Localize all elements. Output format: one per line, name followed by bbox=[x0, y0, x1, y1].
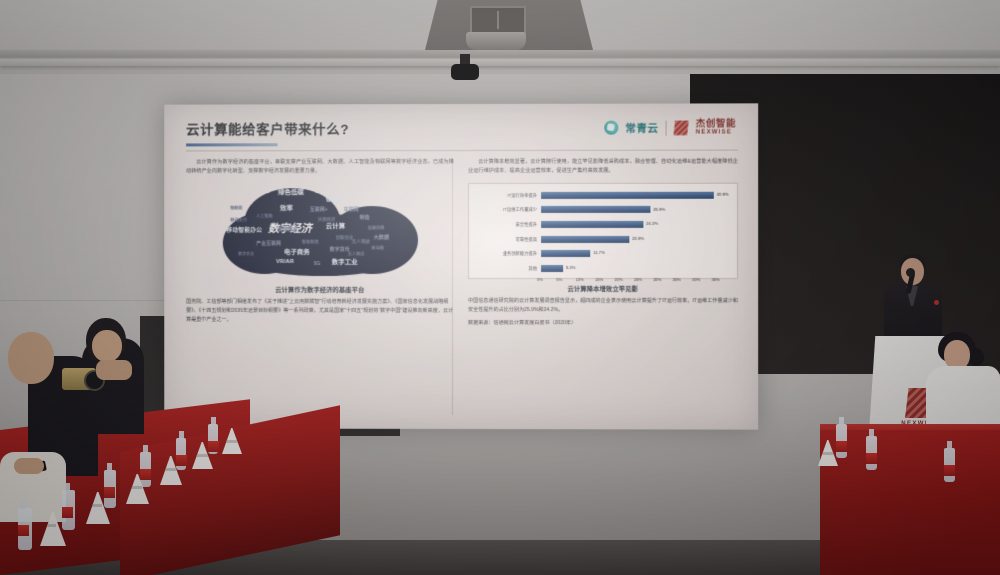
water-bottle bbox=[62, 490, 75, 530]
bar-track: 11.7% bbox=[541, 248, 731, 260]
word-cloud: 数字经济绿色低碳智慧医疗效率互联网+车联网移动智能办公智慧教育云计算低碳消费产业… bbox=[222, 184, 417, 280]
water-bottle bbox=[140, 452, 151, 487]
bar-track: 40.9% bbox=[541, 190, 731, 202]
bar-label: IT运行效率提升 bbox=[475, 193, 541, 199]
microphone-head bbox=[906, 268, 915, 277]
ceiling-beam bbox=[0, 50, 1000, 66]
bar-value-label: 40.9% bbox=[717, 192, 729, 197]
nexwise-en: NEXWISE bbox=[696, 129, 736, 135]
word-cloud-term: 移动支付 bbox=[230, 218, 247, 222]
water-bottle bbox=[18, 508, 32, 550]
word-cloud-term: 大数据 bbox=[374, 236, 390, 241]
bar-label: 其他 bbox=[475, 266, 541, 272]
word-cloud-term: 绿色低碳 bbox=[278, 190, 304, 197]
screenshot-root: 云计算能给客户带来什么? 常青云 杰创智能 NEXWISE bbox=[0, 0, 1000, 575]
axis-tick: 0% bbox=[537, 277, 556, 285]
axis-tick: 5% bbox=[556, 277, 575, 285]
bar-fill bbox=[541, 236, 629, 243]
word-cloud-term: 车联网 bbox=[344, 208, 359, 213]
axis-tick: 30% bbox=[653, 277, 672, 285]
logo-separator bbox=[666, 120, 667, 135]
axis-tick: 45% bbox=[711, 277, 730, 285]
projection-screen: 云计算能给客户带来什么? 常青云 杰创智能 NEXWISE bbox=[164, 103, 758, 429]
bar-chart-bars: IT运行效率提升40.9%IT运维工作量减少25.9%安全性提升24.2%可靠性… bbox=[475, 190, 731, 275]
word-cloud-term: 智慧教育 bbox=[278, 228, 298, 233]
water-bottle bbox=[866, 436, 877, 470]
bar-track: 25.9% bbox=[541, 204, 731, 216]
bar-fill bbox=[541, 250, 590, 257]
bar-chart-xaxis: 0%5%10%15%20%25%30%35%40%45% bbox=[537, 277, 731, 285]
left-footnote: 国务院、工信部等部门相继发布了《关于推进"上云用数赋智"行动培育新经济发展实施方… bbox=[186, 298, 454, 326]
ceiling-light bbox=[466, 32, 526, 50]
word-cloud-term: 智能制造 bbox=[302, 240, 319, 244]
water-bottle bbox=[208, 424, 218, 454]
bar-label: IT运维工作量减少 bbox=[475, 207, 541, 213]
bar-chart-row: IT运维工作量减少25.9% bbox=[475, 204, 731, 216]
bar-value-label: 11.7% bbox=[593, 250, 605, 255]
word-cloud-term: 云计算 bbox=[326, 224, 345, 230]
word-cloud-term: 无人商店 bbox=[348, 252, 365, 256]
word-cloud-term: 效率 bbox=[280, 206, 293, 212]
word-cloud-term: 物联网 bbox=[230, 206, 242, 210]
word-cloud-term: 产业互联网 bbox=[256, 242, 281, 247]
bar-track: 20.9% bbox=[541, 234, 731, 246]
water-bottle bbox=[944, 448, 955, 482]
slide-columns: 云计算作为数字经济的基座平台，串联支撑产业互联网、大数据、人工智能及物联网等数字… bbox=[186, 158, 738, 329]
word-cloud-term: 智慧医疗 bbox=[326, 198, 348, 204]
nexwise-logo-icon bbox=[674, 120, 689, 135]
axis-tick: 35% bbox=[673, 277, 692, 285]
right-column: 云计算降本增效显著，云计算随行使用，能立竿见影降低采购成本，融合管理、自动化运维… bbox=[468, 158, 738, 329]
word-cloud-term: 互联网+ bbox=[310, 208, 328, 213]
bar-track: 24.2% bbox=[541, 219, 731, 231]
bar-fill bbox=[541, 221, 643, 228]
changqingyun-logo-icon bbox=[604, 121, 618, 135]
word-cloud-term: VR/AR bbox=[276, 260, 294, 266]
water-bottle bbox=[104, 470, 116, 508]
bar-value-label: 24.2% bbox=[646, 221, 658, 226]
bar-value-label: 25.9% bbox=[653, 206, 665, 211]
changqingyun-logo-text: 常青云 bbox=[625, 120, 658, 135]
bar-track: 5.2% bbox=[541, 263, 731, 275]
ceiling-vent-icon bbox=[470, 6, 526, 34]
word-cloud-term: 5G bbox=[314, 262, 321, 267]
word-cloud-term: 数字工业 bbox=[332, 260, 358, 266]
attendee-hand bbox=[96, 360, 132, 380]
slide-logos: 常青云 杰创智能 NEXWISE bbox=[604, 119, 736, 136]
bar-fill bbox=[541, 206, 650, 213]
axis-tick: 25% bbox=[634, 277, 653, 285]
bar-chart-row: 可靠性提高20.9% bbox=[475, 234, 731, 246]
bar-fill bbox=[541, 265, 563, 272]
word-cloud-term: 制造 bbox=[360, 216, 370, 221]
bar-label: 业务创新能力提升 bbox=[475, 251, 541, 257]
word-cloud-wrap: 数字经济绿色低碳智慧医疗效率互联网+车联网移动智能办公智慧教育云计算低碳消费产业… bbox=[186, 184, 454, 280]
axis-tick: 10% bbox=[576, 277, 595, 285]
word-cloud-term: 新动能 bbox=[372, 246, 385, 250]
slide: 云计算能给客户带来什么? 常青云 杰创智能 NEXWISE bbox=[164, 103, 758, 429]
lapel-pin bbox=[934, 300, 939, 305]
nexwise-cn: 杰创智能 bbox=[696, 119, 736, 129]
camera bbox=[62, 368, 96, 390]
table-right bbox=[820, 430, 1000, 575]
water-bottle bbox=[836, 424, 847, 458]
water-bottle bbox=[176, 438, 186, 470]
attendee-head bbox=[8, 332, 54, 384]
projector bbox=[451, 64, 479, 80]
bar-chart: IT运行效率提升40.9%IT运维工作量减少25.9%安全性提升24.2%可靠性… bbox=[468, 183, 738, 279]
axis-tick: 20% bbox=[614, 277, 633, 285]
axis-tick: 15% bbox=[595, 277, 614, 285]
bar-chart-row: 业务创新能力提升11.7% bbox=[475, 248, 731, 260]
word-cloud-term: 电子商务 bbox=[284, 250, 310, 256]
bar-value-label: 20.9% bbox=[632, 236, 644, 241]
attendee-hand bbox=[14, 458, 44, 474]
right-footnote: 中国信息通信研究院的云计算发展调查报告显示，超四成的企业表示使用云计算提升了IT… bbox=[468, 297, 738, 315]
slide-surface: 云计算能给客户带来什么? 常青云 杰创智能 NEXWISE bbox=[164, 103, 758, 429]
word-cloud-term: 创新创业 bbox=[336, 236, 354, 240]
bar-chart-row: 安全性提升24.2% bbox=[475, 219, 731, 231]
attendee-face bbox=[92, 330, 122, 362]
word-cloud-term: 数字农业 bbox=[238, 252, 254, 256]
bar-value-label: 5.2% bbox=[566, 265, 576, 270]
bar-chart-row: IT运行效率提升40.9% bbox=[475, 190, 731, 202]
word-cloud-term: 移动智能办公 bbox=[226, 228, 262, 234]
bar-chart-row: 其他5.2% bbox=[475, 263, 731, 275]
attendee-right-bun bbox=[968, 348, 984, 366]
title-underline bbox=[186, 143, 277, 146]
left-caption: 云计算作为数字经济的基座平台 bbox=[186, 285, 454, 294]
left-column: 云计算作为数字经济的基座平台，串联支撑产业互联网、大数据、人工智能及物联网等数字… bbox=[186, 158, 454, 328]
header-divider bbox=[186, 150, 738, 152]
word-cloud-term: 无人驾驶 bbox=[352, 240, 370, 245]
word-cloud-term: 共享经济 bbox=[318, 218, 336, 222]
right-paragraph: 云计算降本增效显著，云计算随行使用，能立竿见影降低采购成本，融合管理、自动化运维… bbox=[468, 158, 738, 177]
word-cloud-term: 低碳消费 bbox=[368, 226, 385, 230]
left-paragraph: 云计算作为数字经济的基座平台，串联支撑产业互联网、大数据、人工智能及物联网等数字… bbox=[186, 158, 454, 177]
bar-label: 安全性提升 bbox=[475, 222, 541, 228]
nexwise-logo-text: 杰创智能 NEXWISE bbox=[696, 119, 736, 135]
axis-tick: 40% bbox=[692, 277, 711, 285]
bar-fill bbox=[541, 192, 714, 199]
chart-source: 数据来源：信通院云计算发展白皮书（2020年） bbox=[468, 319, 738, 328]
word-cloud-term: 人工智能 bbox=[256, 214, 273, 218]
bar-label: 可靠性提高 bbox=[475, 237, 541, 243]
